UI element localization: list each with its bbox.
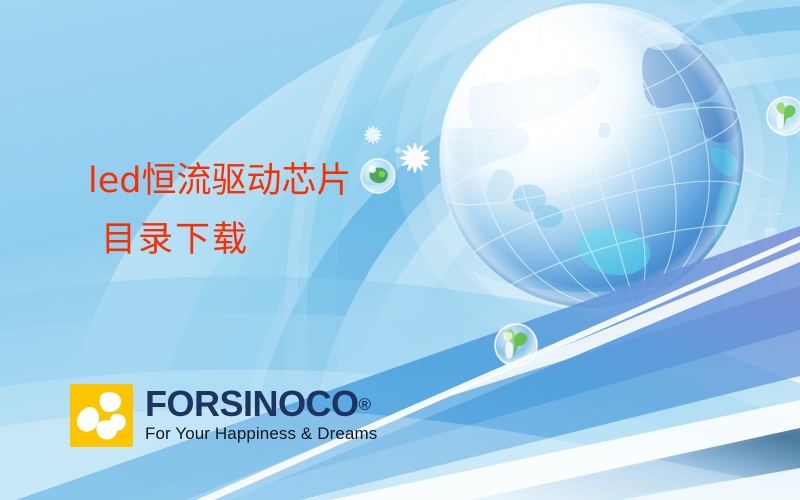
logo-wordmark: FORSINOCO® For Your Happiness & Dreams (145, 384, 377, 443)
brand-logo: FORSINOCO® For Your Happiness & Dreams (70, 384, 377, 447)
bubble-sprout-icon (495, 324, 537, 366)
registered-mark: ® (359, 395, 372, 414)
pinwheel-petals (70, 384, 133, 447)
brand-tagline: For Your Happiness & Dreams (145, 424, 377, 443)
brand-name: FORSINOCO® (145, 386, 377, 422)
bubble-globe-icon (361, 159, 395, 193)
headline-line-2: 目录下载 (101, 223, 351, 258)
bubble-sprout-right-icon (767, 97, 800, 135)
brand-name-text: FORSINOCO (145, 383, 359, 424)
four-petal-pinwheel-icon (70, 384, 133, 447)
headline-line-1: led恒流驱动芯片 (88, 164, 351, 199)
promo-banner: led恒流驱动芯片 目录下载 FORSINOCO® For Your Happ (0, 0, 800, 500)
headline: led恒流驱动芯片 目录下载 (88, 164, 351, 258)
bubble-edge-icon (395, 147, 401, 153)
